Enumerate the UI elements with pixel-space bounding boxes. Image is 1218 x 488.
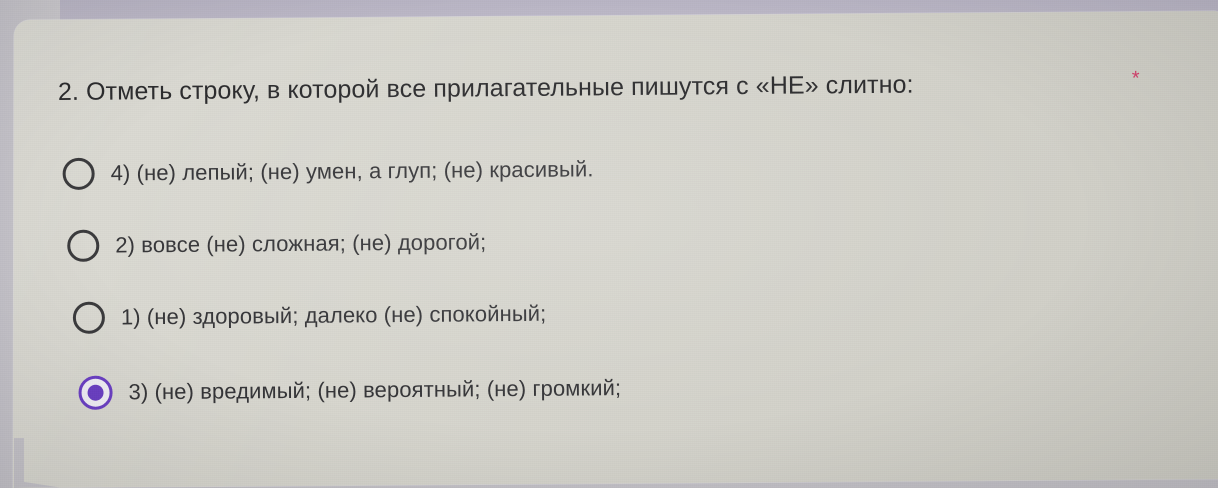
option-row-2[interactable]: 2) вовсе (не) сложная; (не) дорогой; <box>67 226 486 262</box>
radio-button-2[interactable] <box>67 230 99 262</box>
screenshot-root: 2. Отметь строку, в которой все прилагат… <box>0 0 1218 488</box>
option-row-4[interactable]: 4) (не) лепый; (не) умен, а глуп; (не) к… <box>63 153 594 190</box>
question-content: 2. Отметь строку, в которой все прилагат… <box>0 0 1218 488</box>
option-row-3[interactable]: 3) (не) вредимый; (не) вероятный; (не) г… <box>78 371 621 410</box>
radio-button-4[interactable] <box>63 158 95 190</box>
radio-button-1[interactable] <box>73 302 105 334</box>
options-group[interactable]: 4) (не) лепый; (не) умен, а глуп; (не) к… <box>0 140 1218 151</box>
option-label-3: 3) (не) вредимый; (не) вероятный; (не) г… <box>128 374 621 406</box>
question-title: 2. Отметь строку, в которой все прилагат… <box>58 69 914 108</box>
option-label-2: 2) вовсе (не) сложная; (не) дорогой; <box>115 228 486 259</box>
option-row-1[interactable]: 1) (не) здоровый; далеко (не) спокойный; <box>73 298 547 334</box>
option-label-4: 4) (не) лепый; (не) умен, а глуп; (не) к… <box>111 155 594 187</box>
option-label-1: 1) (не) здоровый; далеко (не) спокойный; <box>121 300 547 332</box>
required-asterisk: * <box>1132 69 1140 89</box>
radio-button-3-selected[interactable] <box>78 376 112 410</box>
